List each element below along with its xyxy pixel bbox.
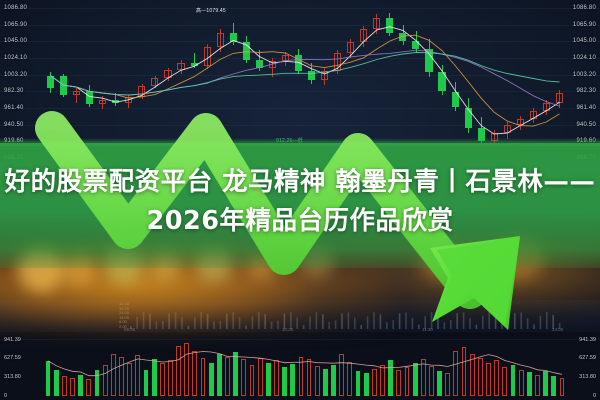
indicator-bar (450, 320, 452, 329)
indicator-bar (399, 313, 401, 329)
indicator-bar (463, 313, 465, 330)
indicator-bar (469, 318, 471, 329)
price-axis-tick: 940.50 (576, 122, 596, 128)
price-axis-tick: 940.50 (4, 122, 24, 128)
stock-banner-image: 1086.801065.901045.001024.101003.20982.3… (0, 0, 600, 400)
price-axis-tick: 1065.90 (573, 22, 596, 28)
volume-axis-tick: 0 (593, 394, 596, 400)
indicator-bar (520, 313, 522, 329)
time-axis-tick: 14:00 (552, 328, 563, 333)
volume-axis-tick: 0 (4, 394, 7, 400)
price-axis-tick: 1086.80 (573, 5, 596, 11)
indicator-bar (533, 324, 535, 329)
price-axis-tick: 982.30 (576, 88, 596, 94)
price-axis-tick: 1045.00 (573, 38, 596, 44)
indicator-bar (418, 325, 420, 329)
price-axis-tick: 961.40 (576, 105, 596, 111)
volume-axis-tick: 627.59 (4, 356, 21, 362)
price-axis-tick: 1086.80 (4, 5, 27, 11)
indicator-bar (405, 313, 407, 330)
volume-axis-tick: 941.39 (4, 338, 21, 344)
indicator-bar (412, 318, 414, 329)
price-axis-tick: 1003.20 (4, 72, 27, 78)
indicator-bar (476, 325, 478, 329)
volume-axis-tick: 313.80 (579, 375, 596, 381)
headline-line-2: 2026年精品台历作品欣赏 (0, 202, 600, 241)
high-price-annotation: 高—1079.45 (196, 9, 226, 14)
price-axis-tick: 1024.10 (573, 55, 596, 61)
volume-axis-tick: 627.59 (579, 356, 596, 362)
indicator-bar (482, 316, 484, 329)
indicator-bar (392, 320, 394, 329)
indicator-bar (501, 323, 503, 329)
indicator-bar (514, 313, 516, 329)
headline-line-1: 好的股票配资平台 龙马精神 翰墨丹青丨石景林—— (5, 167, 596, 197)
volume-axis-tick: 313.80 (4, 375, 21, 381)
price-axis-tick: 1065.90 (4, 22, 27, 28)
volume-axis-tick: 941.39 (579, 338, 596, 344)
time-axis-tick: 11:30 (422, 328, 433, 333)
price-axis-tick: 1003.20 (573, 72, 596, 78)
indicator-bar (508, 320, 510, 329)
indicator-bar (540, 316, 542, 329)
indicator-bar (546, 312, 548, 329)
price-axis-tick: 982.30 (4, 88, 24, 94)
indicator-bar (437, 315, 439, 329)
price-axis-tick: 961.40 (4, 105, 24, 111)
headline-text: 好的股票配资平台 龙马精神 翰墨丹青丨石景林—— 2026年精品台历作品欣赏 (0, 163, 600, 241)
price-axis-tick: 1045.00 (4, 38, 27, 44)
indicator-bar (456, 313, 458, 329)
indicator-bar (527, 318, 529, 329)
price-axis-tick: 1024.10 (4, 55, 27, 61)
indicator-bar (495, 315, 497, 329)
indicator-bar (444, 322, 446, 329)
indicator-bar (488, 312, 490, 329)
